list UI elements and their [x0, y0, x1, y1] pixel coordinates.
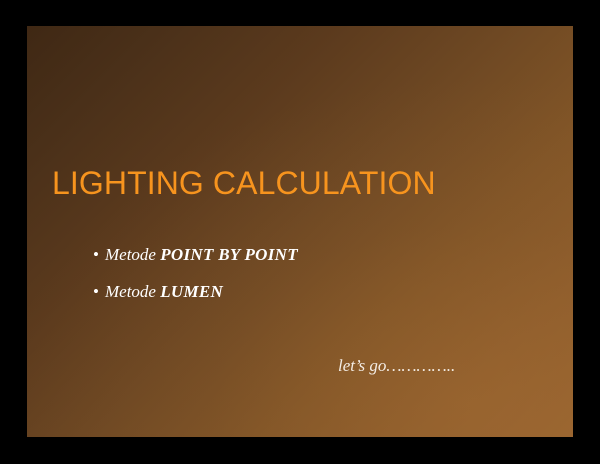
list-item-lead: Metode [105, 282, 160, 301]
list-item-text: Metode POINT BY POINT [105, 244, 298, 266]
list-item-text: Metode LUMEN [105, 281, 223, 303]
page-title: LIGHTING CALCULATION [52, 164, 436, 202]
slide-canvas: LIGHTING CALCULATION • Metode POINT BY P… [27, 26, 573, 437]
list-item: • Metode LUMEN [93, 281, 298, 303]
list-item: • Metode POINT BY POINT [93, 244, 298, 266]
list-item-emphasis: POINT BY POINT [160, 245, 298, 264]
bullet-dot-icon: • [93, 281, 105, 303]
list-item-emphasis: LUMEN [160, 282, 223, 301]
bullet-list: • Metode POINT BY POINT • Metode LUMEN [93, 244, 298, 318]
presentation-slide-viewer: LIGHTING CALCULATION • Metode POINT BY P… [0, 0, 600, 464]
slide-content: LIGHTING CALCULATION • Metode POINT BY P… [27, 26, 573, 437]
list-item-lead: Metode [105, 245, 160, 264]
bullet-dot-icon: • [93, 244, 105, 266]
footer-note: let’s go………….. [338, 355, 455, 377]
